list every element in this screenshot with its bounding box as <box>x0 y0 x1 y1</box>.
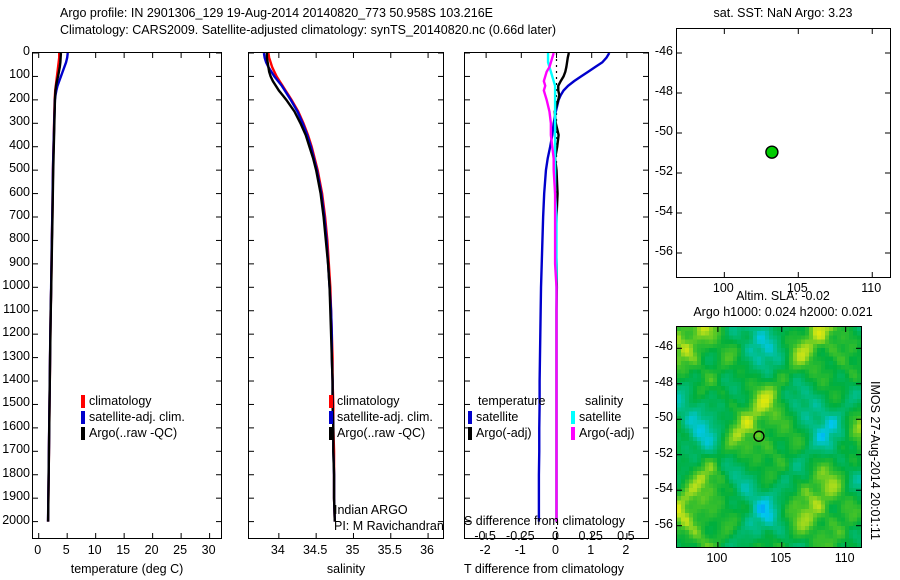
difference-top-tick-0: -0.5 <box>465 529 505 543</box>
temperature-y-tick-700: 700 <box>0 208 30 222</box>
figure-canvas: Argo profile: IN 2901306_129 19-Aug-2014… <box>0 0 900 580</box>
temperature-y-tick-1100: 1100 <box>0 302 30 316</box>
temperature-y-tick-600: 600 <box>0 185 30 199</box>
temperature-y-tick-0: 0 <box>0 44 30 58</box>
salinity-legend-label-2: Argo(..raw -QC) <box>337 426 425 440</box>
difference-temp-legend-swatch-0 <box>468 411 472 424</box>
temperature-x-tick-15: 15 <box>111 543 135 557</box>
sla-y-tick--46: -46 <box>645 339 673 353</box>
temperature-y-tick-400: 400 <box>0 138 30 152</box>
salinity-plot <box>249 53 443 538</box>
temperature-x-tick-10: 10 <box>83 543 107 557</box>
temperature-y-tick-1500: 1500 <box>0 395 30 409</box>
salinity-x-tick-4: 36 <box>411 543 443 557</box>
difference-legend-heading-salinity: salinity <box>585 394 623 408</box>
difference-temp-legend-swatch-1 <box>468 427 472 440</box>
difference-legend-heading-temperature: temperature <box>478 394 545 408</box>
difference-bottom-tick-2: 2 <box>612 543 640 557</box>
salinity-legend-label-0: climatology <box>337 394 400 408</box>
sla-y-tick--56: -56 <box>645 517 673 531</box>
temperature-y-tick-900: 900 <box>0 255 30 269</box>
imos-timestamp: IMOS 27-Aug-2014 20:01:11 <box>868 381 882 540</box>
temperature-y-tick-500: 500 <box>0 161 30 175</box>
difference-top-tick-1: -0.25 <box>500 529 540 543</box>
temperature-y-tick-2000: 2000 <box>0 513 30 527</box>
difference-bottom-tick-1: 1 <box>577 543 605 557</box>
temperature-y-tick-1300: 1300 <box>0 349 30 363</box>
temperature-y-tick-200: 200 <box>0 91 30 105</box>
temperature-legend-swatch-1 <box>81 411 85 424</box>
temperature-plot <box>33 53 221 538</box>
difference-top-tick-4: 0.5 <box>606 529 646 543</box>
sst-y-tick--46: -46 <box>645 44 673 58</box>
sla-y-tick--54: -54 <box>645 481 673 495</box>
difference-sal-legend-label-1: Argo(-adj) <box>579 426 635 440</box>
temperature-y-tick-1900: 1900 <box>0 489 30 503</box>
sst-map-title: sat. SST: NaN Argo: 3.23 <box>673 6 893 20</box>
difference-xlabel-bottom: T difference from climatology <box>464 562 649 576</box>
sla-y-tick--50: -50 <box>645 410 673 424</box>
difference-sal-legend-swatch-0 <box>571 411 575 424</box>
temperature-y-tick-1400: 1400 <box>0 372 30 386</box>
temperature-y-tick-1200: 1200 <box>0 325 30 339</box>
sla-x-tick-110: 110 <box>829 551 861 565</box>
sla-x-tick-100: 100 <box>701 551 733 565</box>
temperature-y-tick-1700: 1700 <box>0 442 30 456</box>
difference-sal-legend-label-0: satellite <box>579 410 621 424</box>
salinity-x-tick-3: 35.5 <box>374 543 406 557</box>
sst-y-tick--54: -54 <box>645 204 673 218</box>
sla-map-axes <box>676 326 862 548</box>
temperature-legend-swatch-0 <box>81 395 85 408</box>
sst-map-plot <box>677 29 890 277</box>
sst-y-tick--56: -56 <box>645 244 673 258</box>
salinity-legend-swatch-1 <box>329 411 333 424</box>
salinity-legend-swatch-0 <box>329 395 333 408</box>
temperature-y-tick-100: 100 <box>0 67 30 81</box>
salinity-annotation-line1: Indian ARGO <box>334 503 408 517</box>
salinity-legend-swatch-2 <box>329 427 333 440</box>
salinity-annotation-line2: PI: M Ravichandran <box>334 519 444 533</box>
sla-y-tick--48: -48 <box>645 375 673 389</box>
temperature-y-tick-1600: 1600 <box>0 419 30 433</box>
salinity-xlabel: salinity <box>248 562 444 576</box>
difference-plot <box>465 53 648 538</box>
temperature-x-tick-0: 0 <box>26 543 50 557</box>
difference-bottom-tick--2: -2 <box>471 543 499 557</box>
temperature-xlabel: temperature (deg C) <box>32 562 222 576</box>
sst-map-axes <box>676 28 891 278</box>
temperature-y-tick-300: 300 <box>0 114 30 128</box>
temperature-legend-label-1: satellite-adj. clim. <box>89 410 185 424</box>
salinity-x-tick-0: 34 <box>262 543 294 557</box>
sst-y-tick--48: -48 <box>645 84 673 98</box>
salinity-legend-label-1: satellite-adj. clim. <box>337 410 433 424</box>
temperature-legend-label-0: climatology <box>89 394 152 408</box>
temperature-y-tick-1000: 1000 <box>0 278 30 292</box>
difference-axes <box>464 52 649 539</box>
salinity-x-tick-1: 34.5 <box>299 543 331 557</box>
temperature-y-tick-1800: 1800 <box>0 466 30 480</box>
temperature-x-tick-5: 5 <box>54 543 78 557</box>
temperature-y-tick-800: 800 <box>0 231 30 245</box>
sla-map-title-line2: Argo h1000: 0.024 h2000: 0.021 <box>663 305 900 319</box>
temperature-legend-swatch-2 <box>81 427 85 440</box>
sst-y-tick--50: -50 <box>645 124 673 138</box>
sla-map-title-line1: Altim. SLA: -0.02 <box>673 289 893 303</box>
figure-title-line2: Climatology: CARS2009. Satellite-adjuste… <box>60 23 556 37</box>
temperature-axes <box>32 52 222 539</box>
sla-map-plot <box>677 327 861 547</box>
difference-bottom-tick-0: 0 <box>542 543 570 557</box>
difference-temp-legend-label-1: Argo(-adj) <box>476 426 532 440</box>
sla-y-tick--52: -52 <box>645 446 673 460</box>
temperature-legend-label-2: Argo(..raw -QC) <box>89 426 177 440</box>
difference-top-tick-2: 0 <box>536 529 576 543</box>
temperature-x-tick-30: 30 <box>197 543 221 557</box>
figure-title-line1: Argo profile: IN 2901306_129 19-Aug-2014… <box>60 6 493 20</box>
sst-y-tick--52: -52 <box>645 164 673 178</box>
difference-bottom-tick--1: -1 <box>506 543 534 557</box>
salinity-axes <box>248 52 444 539</box>
temperature-x-tick-20: 20 <box>140 543 164 557</box>
difference-top-tick-3: 0.25 <box>571 529 611 543</box>
difference-xlabel-top: S difference from climatology <box>464 514 649 528</box>
sla-x-tick-105: 105 <box>765 551 797 565</box>
salinity-x-tick-2: 35 <box>336 543 368 557</box>
difference-sal-legend-swatch-1 <box>571 427 575 440</box>
temperature-x-tick-25: 25 <box>168 543 192 557</box>
difference-temp-legend-label-0: satellite <box>476 410 518 424</box>
